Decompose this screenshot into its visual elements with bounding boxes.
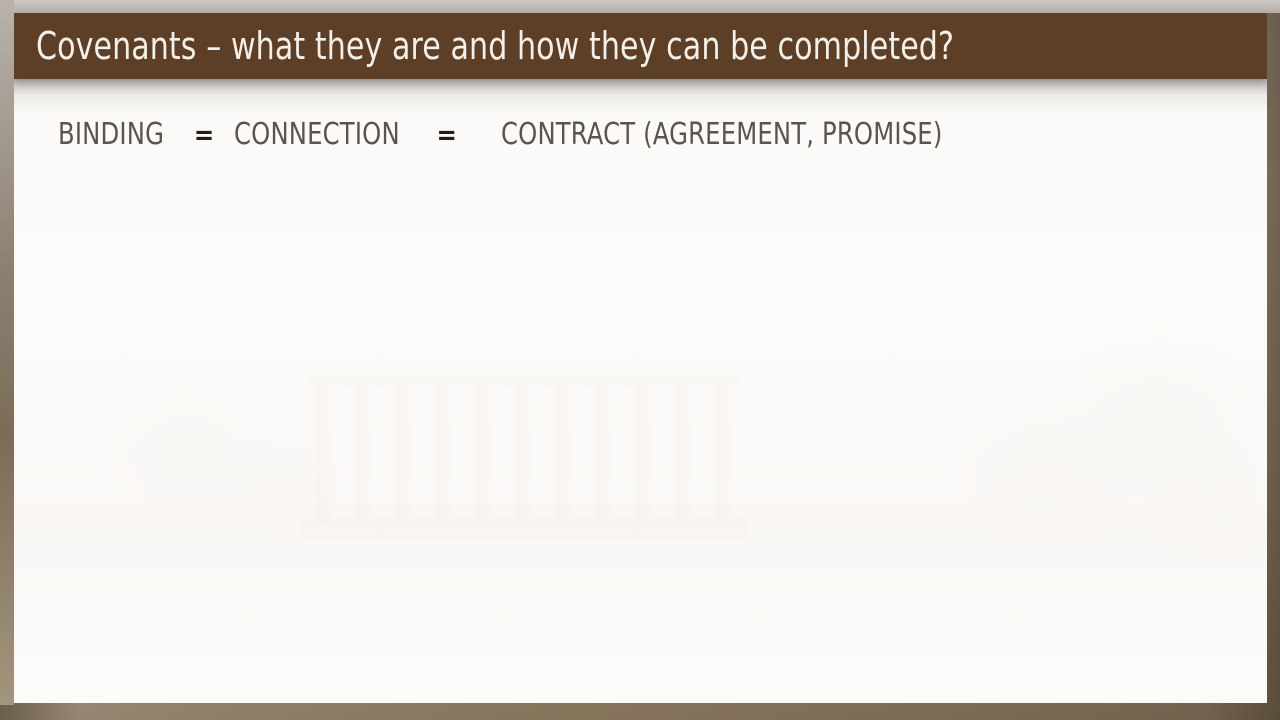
equation-operator-1: = [194, 120, 214, 151]
page-title: Covenants – what they are and how they c… [36, 24, 954, 68]
equation-term-binding: BINDING [58, 117, 164, 152]
equation-term-connection: CONNECTION [234, 117, 400, 152]
slide-canvas: Covenants – what they are and how they c… [14, 13, 1267, 703]
background-photo [14, 233, 1267, 703]
equation-term-contract: CONTRACT (AGREEMENT, PROMISE) [501, 117, 942, 152]
frame-top-edge [0, 0, 1280, 13]
title-bar-shadow [14, 79, 1267, 113]
photo-white-wash [14, 233, 1267, 703]
frame-left-edge [0, 0, 14, 705]
title-bar: Covenants – what they are and how they c… [14, 13, 1267, 79]
equation-row: BINDING = CONNECTION = CONTRACT (AGREEME… [58, 117, 991, 152]
equation-operator-2: = [437, 120, 457, 151]
slide-frame: Covenants – what they are and how they c… [0, 0, 1280, 720]
